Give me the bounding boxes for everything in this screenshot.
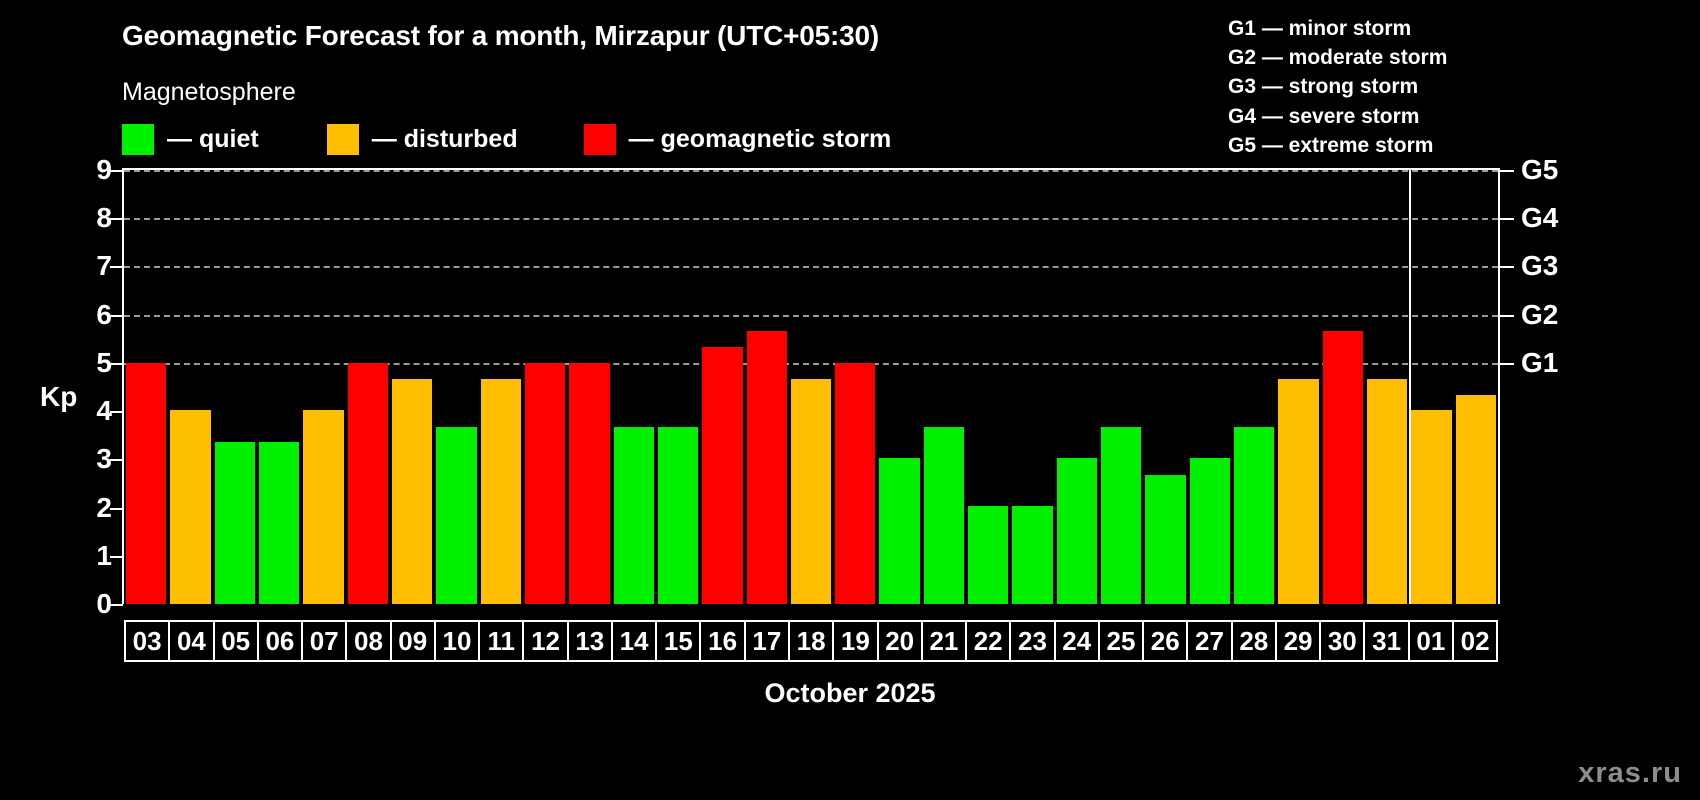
legend-label-storm: geomagnetic storm — [661, 127, 892, 152]
legend-swatch-green — [122, 124, 154, 155]
bar-day-07 — [303, 410, 343, 604]
bar-day-08 — [348, 363, 388, 604]
y-tick-label-7: 7 — [72, 250, 112, 282]
day-label-18: 18 — [788, 620, 832, 662]
g-scale-legend-g3: G3 — strong storm — [1228, 72, 1688, 101]
day-label-07: 07 — [301, 620, 345, 662]
day-axis: 0304050607080910111213141516171819202122… — [124, 620, 1498, 662]
day-label-06: 06 — [257, 620, 301, 662]
day-label-23: 23 — [1009, 620, 1053, 662]
g-axis-label-g2: G2 — [1521, 299, 1558, 331]
day-label-08: 08 — [345, 620, 389, 662]
day-label-05: 05 — [213, 620, 257, 662]
y-tick-label-2: 2 — [72, 492, 112, 524]
bar-day-29 — [1278, 379, 1318, 604]
bar-day-06 — [259, 442, 299, 604]
day-label-03: 03 — [124, 620, 168, 662]
g-axis-label-g4: G4 — [1521, 202, 1558, 234]
y-tick-label-4: 4 — [72, 395, 112, 427]
g-tick-g2 — [1500, 315, 1514, 317]
legend-dash-quiet: — — [167, 127, 192, 152]
g-axis-label-g5: G5 — [1521, 154, 1558, 186]
bar-day-25 — [1101, 427, 1141, 604]
day-label-26: 26 — [1142, 620, 1186, 662]
y-tick-label-5: 5 — [72, 347, 112, 379]
g-scale-legend: G1 — minor storm G2 — moderate storm G3 … — [1228, 14, 1688, 160]
x-axis-title: October 2025 — [0, 678, 1700, 709]
day-label-24: 24 — [1054, 620, 1098, 662]
bar-day-31 — [1367, 379, 1407, 604]
legend-swatch-red — [584, 124, 616, 155]
bar-day-16 — [702, 347, 742, 604]
bar-day-18 — [791, 379, 831, 604]
day-label-27: 27 — [1186, 620, 1230, 662]
day-label-31: 31 — [1363, 620, 1407, 662]
bar-day-03 — [126, 363, 166, 604]
y-tick-label-8: 8 — [72, 202, 112, 234]
legend-heading: Magnetosphere — [122, 78, 296, 107]
bar-day-27 — [1190, 458, 1230, 604]
day-label-20: 20 — [877, 620, 921, 662]
bar-day-14 — [614, 427, 654, 604]
g-axis-label-g1: G1 — [1521, 347, 1558, 379]
day-label-02: 02 — [1452, 620, 1498, 662]
day-label-16: 16 — [699, 620, 743, 662]
page-title: Geomagnetic Forecast for a month, Mirzap… — [122, 20, 879, 52]
legend-item-storm: — geomagnetic storm — [584, 122, 892, 156]
g-scale-legend-g2: G2 — moderate storm — [1228, 43, 1688, 72]
month-separator-line — [1409, 168, 1411, 604]
bars-layer — [124, 170, 1498, 604]
day-label-10: 10 — [434, 620, 478, 662]
legend-item-disturbed: — disturbed — [327, 122, 518, 156]
bar-day-01 — [1411, 410, 1451, 604]
day-label-09: 09 — [390, 620, 434, 662]
geomagnetic-forecast-chart: Geomagnetic Forecast for a month, Mirzap… — [0, 0, 1700, 800]
day-label-14: 14 — [611, 620, 655, 662]
bar-day-13 — [569, 363, 609, 604]
g-tick-g3 — [1500, 266, 1514, 268]
legend-dash-disturbed: — — [372, 127, 397, 152]
bar-day-09 — [392, 379, 432, 604]
y-tick-label-9: 9 — [72, 154, 112, 186]
day-label-12: 12 — [522, 620, 566, 662]
bar-day-26 — [1145, 475, 1185, 604]
g-scale-legend-g4: G4 — severe storm — [1228, 102, 1688, 131]
day-label-11: 11 — [478, 620, 522, 662]
bar-day-17 — [747, 331, 787, 604]
day-label-13: 13 — [567, 620, 611, 662]
bar-day-22 — [968, 506, 1008, 604]
watermark: xras.ru — [1578, 757, 1682, 790]
legend-dash-storm: — — [629, 127, 654, 152]
g-tick-g5 — [1500, 170, 1514, 172]
bar-day-11 — [481, 379, 521, 604]
day-label-28: 28 — [1231, 620, 1275, 662]
g-scale-legend-g5: G5 — extreme storm — [1228, 131, 1688, 160]
bar-day-12 — [525, 363, 565, 604]
bar-day-19 — [835, 363, 875, 604]
g-axis-label-g3: G3 — [1521, 250, 1558, 282]
g-tick-g1 — [1500, 363, 1514, 365]
day-label-17: 17 — [744, 620, 788, 662]
legend-item-quiet: — quiet — [122, 122, 259, 156]
day-label-29: 29 — [1275, 620, 1319, 662]
bar-day-04 — [170, 410, 210, 604]
y-tick-label-0: 0 — [72, 588, 112, 620]
legend-swatch-orange — [327, 124, 359, 155]
bar-day-28 — [1234, 427, 1274, 604]
legend-label-disturbed: disturbed — [404, 127, 518, 152]
bar-day-20 — [879, 458, 919, 604]
y-tick-label-1: 1 — [72, 540, 112, 572]
bar-day-21 — [924, 427, 964, 604]
y-tick-label-6: 6 — [72, 299, 112, 331]
day-label-25: 25 — [1098, 620, 1142, 662]
bar-day-24 — [1057, 458, 1097, 604]
legend: — quiet — disturbed — geomagnetic storm — [122, 122, 891, 156]
y-tick-label-3: 3 — [72, 443, 112, 475]
day-label-19: 19 — [832, 620, 876, 662]
bar-day-23 — [1012, 506, 1052, 604]
day-label-04: 04 — [168, 620, 212, 662]
g-tick-g4 — [1500, 218, 1514, 220]
day-label-21: 21 — [921, 620, 965, 662]
g-scale-legend-g1: G1 — minor storm — [1228, 14, 1688, 43]
legend-label-quiet: quiet — [199, 127, 259, 152]
bar-day-02 — [1456, 395, 1496, 604]
bar-day-05 — [215, 442, 255, 604]
bar-day-10 — [436, 427, 476, 604]
bar-day-15 — [658, 427, 698, 604]
day-label-15: 15 — [655, 620, 699, 662]
bar-day-30 — [1323, 331, 1363, 604]
day-label-01: 01 — [1408, 620, 1452, 662]
day-label-30: 30 — [1319, 620, 1363, 662]
day-label-22: 22 — [965, 620, 1009, 662]
